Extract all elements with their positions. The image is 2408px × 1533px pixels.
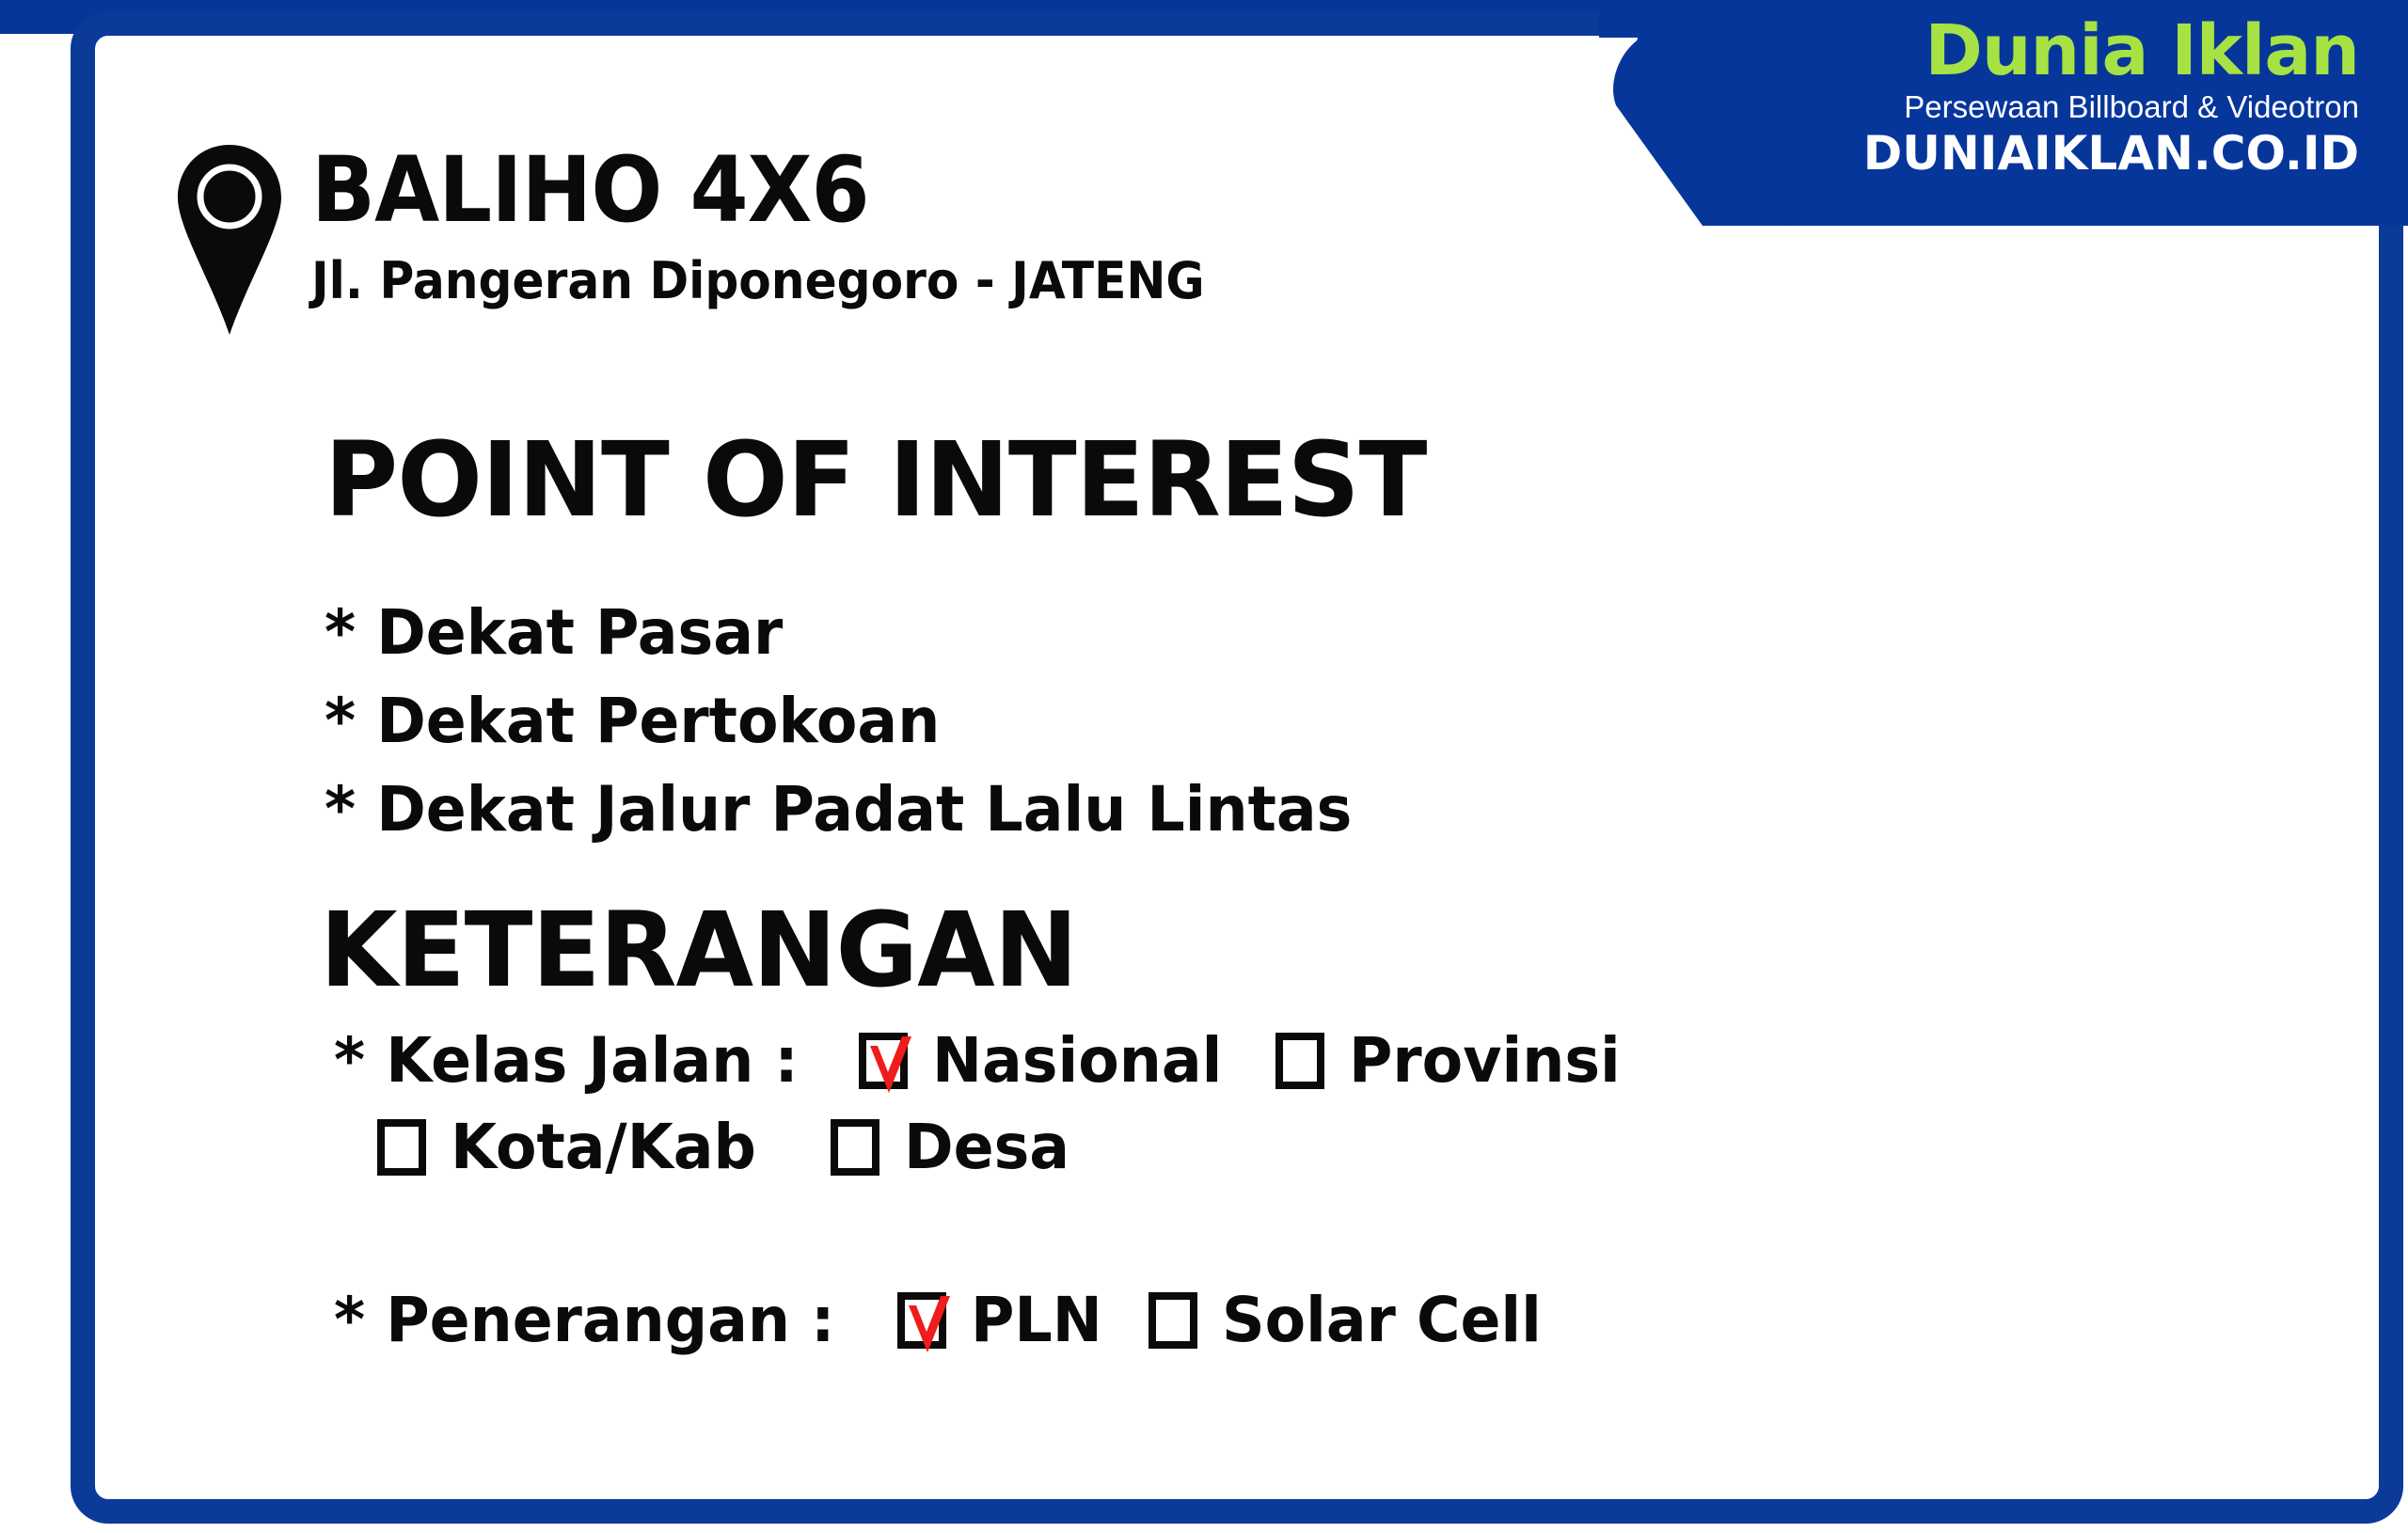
- checkbox-pln[interactable]: [897, 1292, 946, 1349]
- checkbox-option-solar-cell[interactable]: Solar Cell: [1149, 1289, 1555, 1351]
- billboard-address: Jl. Pangeran Diponegoro - JATENG: [311, 256, 1205, 307]
- checkbox-kota-kab[interactable]: [377, 1119, 426, 1176]
- kelas-jalan-row: * Kelas Jalan : Nasional Provinsi: [334, 1030, 2215, 1092]
- checkbox-nasional[interactable]: [859, 1033, 908, 1089]
- location-pin-icon: [174, 141, 285, 339]
- keterangan-body: * Kelas Jalan : Nasional Provinsi: [334, 1030, 2215, 1351]
- checkbox-option-nasional[interactable]: Nasional: [859, 1030, 1234, 1092]
- kelas-jalan-label: * Kelas Jalan :: [334, 1030, 799, 1092]
- checkbox-label-kota-kab: Kota/Kab: [451, 1116, 756, 1178]
- penerangan-label: * Penerangan :: [334, 1289, 834, 1351]
- list-item: * Dekat Jalur Padat Lalu Lintas: [325, 779, 1860, 841]
- keterangan-heading: KETERANGAN: [320, 898, 1077, 1002]
- checkbox-option-provinsi[interactable]: Provinsi: [1275, 1030, 1632, 1092]
- billboard-info-card: Dunia Iklan Persewaan Billboard & Videot…: [0, 0, 2408, 1533]
- billboard-header: BALIHO 4X6 Jl. Pangeran Diponegoro - JAT…: [174, 132, 1272, 339]
- penerangan-row: * Penerangan : PLN Solar Cell: [334, 1289, 2215, 1351]
- point-of-interest-heading: POINT OF INTEREST: [325, 428, 1426, 531]
- checkbox-option-pln[interactable]: PLN: [897, 1289, 1108, 1351]
- checkbox-option-desa[interactable]: Desa: [831, 1116, 1076, 1178]
- checkbox-option-kota-kab[interactable]: Kota/Kab: [377, 1116, 768, 1178]
- checkbox-label-provinsi: Provinsi: [1349, 1030, 1621, 1092]
- checkbox-label-nasional: Nasional: [932, 1030, 1222, 1092]
- list-item: * Dekat Pertokoan: [325, 690, 1860, 752]
- checkbox-provinsi[interactable]: [1275, 1033, 1324, 1089]
- checkbox-label-desa: Desa: [904, 1116, 1069, 1178]
- checkbox-label-pln: PLN: [971, 1289, 1102, 1351]
- kelas-jalan-row-2: Kota/Kab Desa: [334, 1116, 2215, 1178]
- checkbox-solar-cell[interactable]: [1149, 1292, 1197, 1349]
- page-title: BALIHO 4X6: [311, 145, 1205, 235]
- check-mark-icon: [864, 1035, 917, 1102]
- point-of-interest-list: * Dekat Pasar * Dekat Pertokoan * Dekat …: [325, 602, 1924, 867]
- list-item: * Dekat Pasar: [325, 602, 1860, 664]
- checkbox-desa[interactable]: [831, 1119, 879, 1176]
- check-mark-icon: [903, 1294, 956, 1362]
- checkbox-label-solar-cell: Solar Cell: [1222, 1289, 1542, 1351]
